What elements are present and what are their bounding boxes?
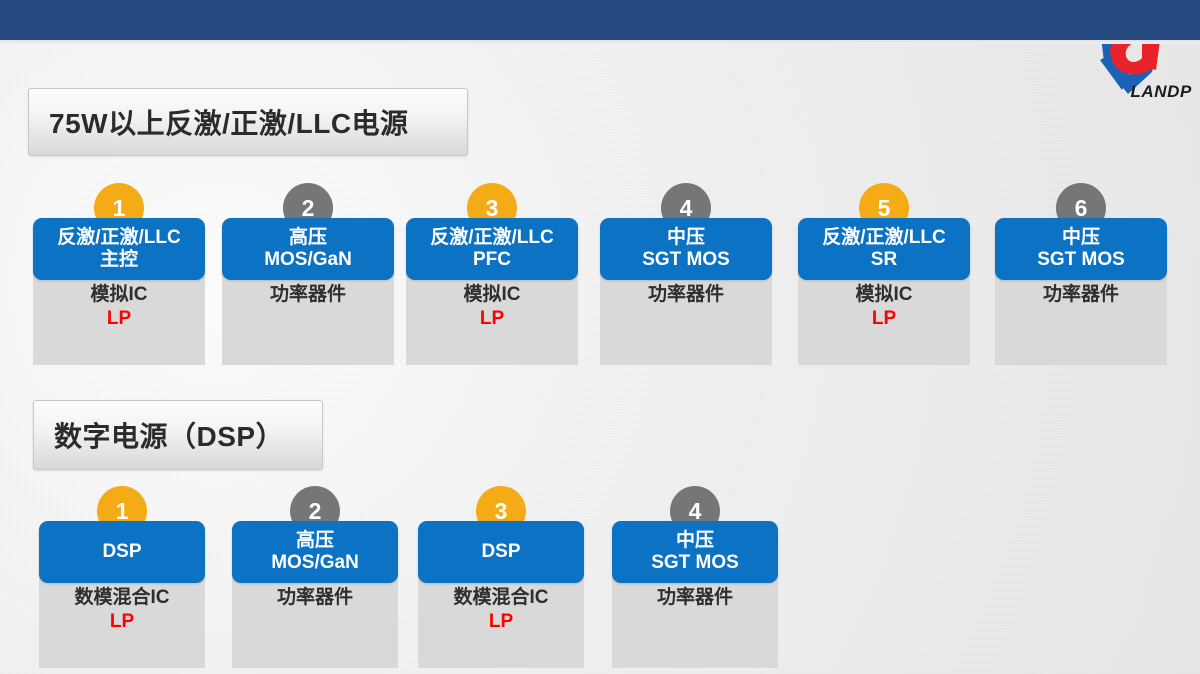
card-head-line: 反激/正激/LLC (57, 227, 181, 249)
card-body-main: 功率器件 (600, 283, 772, 307)
card-head: 中压 SGT MOS (995, 218, 1167, 280)
section-title-plaque-1: 75W以上反激/正激/LLC电源 (28, 88, 468, 156)
card-head-line: 主控 (100, 249, 138, 271)
card-head: 反激/正激/LLC 主控 (33, 218, 205, 280)
unit-card[interactable]: 1 模拟IC LP 反激/正激/LLC 主控 (33, 183, 205, 365)
section-title-2: 数字电源（DSP） (54, 415, 284, 455)
slide-canvas: Part A-D 电源内部单元说明 24 LANDP 75W以上反激/正激/LL… (0, 0, 1200, 674)
card-head: DSP (39, 521, 205, 583)
card-head-line: 反激/正激/LLC (822, 227, 946, 249)
card-head-line: 中压 (1062, 227, 1100, 249)
card-head-line: SGT MOS (1037, 249, 1125, 271)
card-head-line: 反激/正激/LLC (430, 227, 554, 249)
card-head-line: DSP (102, 541, 141, 563)
card-body-tag: LP (406, 307, 578, 330)
unit-card[interactable]: 1 数模混合IC LP DSP (39, 486, 205, 668)
card-head-line: SGT MOS (651, 552, 739, 574)
card-head-line: 高压 (289, 227, 327, 249)
unit-card[interactable]: 6 功率器件 中压 SGT MOS (995, 183, 1167, 365)
card-head-line: 高压 (296, 530, 334, 552)
card-head: 反激/正激/LLC PFC (406, 218, 578, 280)
card-body-main: 数模混合IC (39, 586, 205, 610)
unit-card[interactable]: 5 模拟IC LP 反激/正激/LLC SR (798, 183, 970, 365)
card-body-main: 数模混合IC (418, 586, 584, 610)
section-title-1: 75W以上反激/正激/LLC电源 (49, 102, 409, 142)
card-body-main: 功率器件 (232, 586, 398, 610)
card-body-tag: LP (798, 307, 970, 330)
card-head: DSP (418, 521, 584, 583)
card-head: 高压 MOS/GaN (222, 218, 394, 280)
card-head-line: SGT MOS (642, 249, 730, 271)
card-head-line: 中压 (667, 227, 705, 249)
unit-card[interactable]: 2 功率器件 高压 MOS/GaN (222, 183, 394, 365)
card-body-tag: LP (39, 610, 205, 633)
unit-card[interactable]: 4 功率器件 中压 SGT MOS (612, 486, 778, 668)
section-title-plaque-2: 数字电源（DSP） (33, 400, 323, 470)
card-head-line: DSP (481, 541, 520, 563)
card-head: 中压 SGT MOS (612, 521, 778, 583)
unit-card[interactable]: 3 模拟IC LP 反激/正激/LLC PFC (406, 183, 578, 365)
slide-header-bar (0, 0, 1200, 40)
card-head-line: MOS/GaN (271, 552, 359, 574)
unit-card[interactable]: 2 功率器件 高压 MOS/GaN (232, 486, 398, 668)
card-head: 高压 MOS/GaN (232, 521, 398, 583)
card-head-line: 中压 (676, 530, 714, 552)
card-body-tag: LP (418, 610, 584, 633)
card-head: 中压 SGT MOS (600, 218, 772, 280)
card-body-main: 模拟IC (798, 283, 970, 307)
card-head-line: SR (871, 249, 897, 271)
card-head: 反激/正激/LLC SR (798, 218, 970, 280)
card-body-main: 模拟IC (406, 283, 578, 307)
unit-card[interactable]: 3 数模混合IC LP DSP (418, 486, 584, 668)
card-body-main: 功率器件 (222, 283, 394, 307)
card-body-main: 功率器件 (995, 283, 1167, 307)
card-body-main: 模拟IC (33, 283, 205, 307)
card-head-line: MOS/GaN (264, 249, 352, 271)
card-body-main: 功率器件 (612, 586, 778, 610)
landp-logo-text: LANDP (1130, 82, 1192, 102)
card-body-tag: LP (33, 307, 205, 330)
header-underline (0, 40, 1200, 44)
card-head-line: PFC (473, 249, 511, 271)
unit-card[interactable]: 4 功率器件 中压 SGT MOS (600, 183, 772, 365)
